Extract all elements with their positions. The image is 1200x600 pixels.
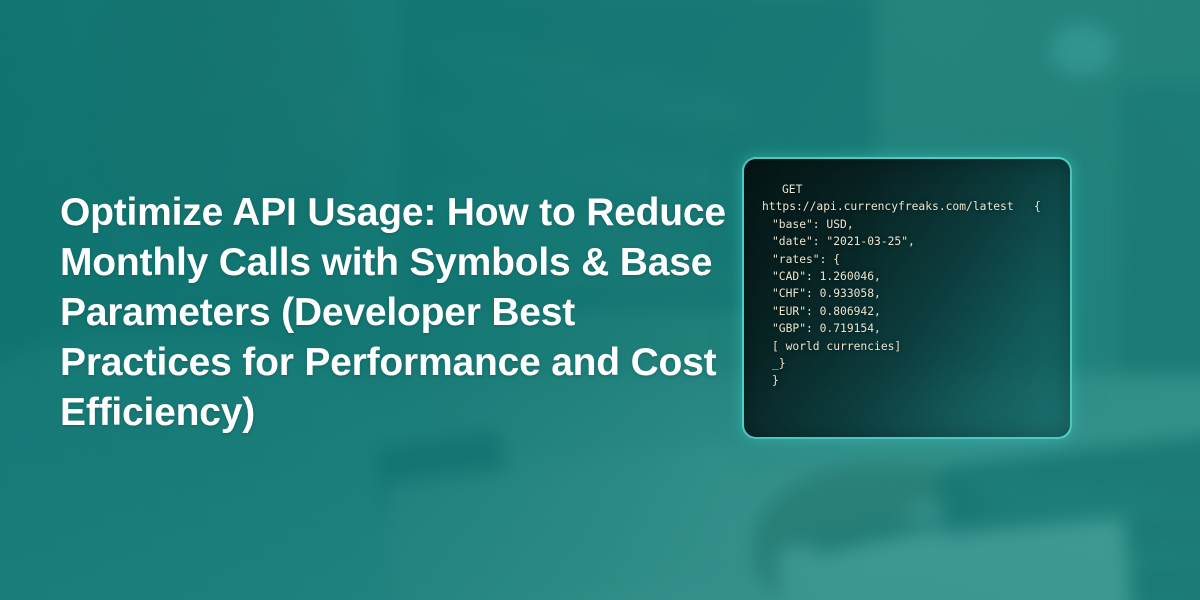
code-line: https://api.currencyfreaks.com/latest { [762,198,1060,215]
code-line: "EUR": 0.806942, [762,303,1060,320]
code-line: "GBP": 0.719154, [762,320,1060,337]
api-code-block: GEThttps://api.currencyfreaks.com/latest… [762,181,1060,390]
code-line: GET [762,181,1060,198]
code-line: } [762,372,1060,389]
page-title: Optimize API Usage: How to Reduce Monthl… [60,188,750,438]
code-line: "date": "2021-03-25", [762,233,1060,250]
code-line: [ world currencies] [762,338,1060,355]
code-line: "rates": { [762,251,1060,268]
code-line: _} [762,355,1060,372]
code-line: "CAD": 1.260046, [762,268,1060,285]
hero-banner: Optimize API Usage: How to Reduce Monthl… [0,0,1200,600]
api-code-panel: GEThttps://api.currencyfreaks.com/latest… [742,157,1072,439]
code-line: "base": USD, [762,216,1060,233]
code-line: "CHF": 0.933058, [762,285,1060,302]
